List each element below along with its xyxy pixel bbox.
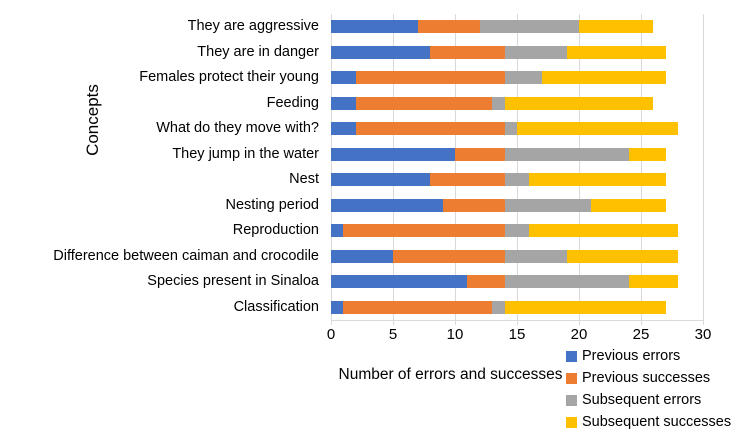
bar-segment[interactable] — [331, 122, 356, 135]
bar-segment[interactable] — [629, 275, 679, 288]
legend-swatch-icon — [566, 351, 577, 362]
legend-swatch-icon — [566, 417, 577, 428]
x-axis-title: Number of errors and successes — [332, 366, 569, 384]
bar-segment[interactable] — [331, 20, 418, 33]
x-tick-label: 0 — [311, 326, 351, 343]
x-tick-label: 30 — [683, 326, 723, 343]
bar-row — [331, 269, 703, 295]
bar-segment[interactable] — [579, 20, 653, 33]
bar-segment[interactable] — [343, 301, 492, 314]
bar-segment[interactable] — [356, 71, 505, 84]
stacked-bar[interactable] — [331, 46, 703, 59]
bar-segment[interactable] — [505, 275, 629, 288]
x-tick — [641, 320, 642, 325]
bar-row — [331, 142, 703, 168]
bar-segment[interactable] — [331, 97, 356, 110]
stacked-bar[interactable] — [331, 199, 703, 212]
bar-segment[interactable] — [529, 173, 665, 186]
stacked-bar[interactable] — [331, 148, 703, 161]
bar-row — [331, 116, 703, 142]
bar-segment[interactable] — [505, 199, 592, 212]
bar-segment[interactable] — [505, 71, 542, 84]
bar-segment[interactable] — [529, 224, 678, 237]
stacked-bar[interactable] — [331, 275, 703, 288]
bar-row — [331, 167, 703, 193]
category-label: Nest — [30, 167, 324, 193]
bar-row — [331, 40, 703, 66]
bar-segment[interactable] — [591, 199, 665, 212]
bar-row — [331, 65, 703, 91]
legend-swatch-icon — [566, 373, 577, 384]
stacked-bar-chart: Concepts They are aggressiveThey are in … — [0, 0, 739, 437]
chart-legend: Previous errorsPrevious successesSubsequ… — [566, 345, 739, 433]
stacked-bar[interactable] — [331, 97, 703, 110]
legend-label: Previous successes — [582, 370, 710, 386]
x-tick-label: 5 — [373, 326, 413, 343]
bar-row — [331, 244, 703, 270]
x-tick — [455, 320, 456, 325]
category-label: Difference between caiman and crocodile — [30, 244, 324, 270]
bar-segment[interactable] — [492, 97, 504, 110]
category-label: What do they move with? — [30, 116, 324, 142]
x-tick-label: 15 — [497, 326, 537, 343]
legend-item[interactable]: Subsequent successes — [566, 411, 739, 433]
bar-row — [331, 295, 703, 321]
bar-segment[interactable] — [331, 275, 467, 288]
x-tick — [579, 320, 580, 325]
bar-segment[interactable] — [505, 148, 629, 161]
bar-segment[interactable] — [331, 71, 356, 84]
bar-segment[interactable] — [443, 199, 505, 212]
bar-segment[interactable] — [467, 275, 504, 288]
bar-segment[interactable] — [492, 301, 504, 314]
gridline — [703, 14, 704, 320]
bar-segment[interactable] — [331, 224, 343, 237]
bar-segment[interactable] — [542, 71, 666, 84]
bar-segment[interactable] — [505, 301, 666, 314]
category-label: Nesting period — [30, 193, 324, 219]
bar-row — [331, 193, 703, 219]
bar-segment[interactable] — [331, 173, 430, 186]
x-tick — [393, 320, 394, 325]
plot-area — [331, 14, 703, 320]
bar-segment[interactable] — [331, 199, 443, 212]
bar-segment[interactable] — [567, 46, 666, 59]
bar-segment[interactable] — [418, 20, 480, 33]
stacked-bar[interactable] — [331, 250, 703, 263]
category-label: They are aggressive — [30, 14, 324, 40]
legend-label: Subsequent successes — [582, 414, 731, 430]
bar-segment[interactable] — [505, 122, 517, 135]
bar-segment[interactable] — [430, 173, 504, 186]
bar-segment[interactable] — [430, 46, 504, 59]
x-tick-label: 20 — [559, 326, 599, 343]
bar-segment[interactable] — [505, 46, 567, 59]
bar-segment[interactable] — [517, 122, 678, 135]
x-tick — [331, 320, 332, 325]
legend-item[interactable]: Previous successes — [566, 367, 739, 389]
legend-label: Previous errors — [582, 348, 680, 364]
bar-row — [331, 91, 703, 117]
legend-item[interactable]: Subsequent errors — [566, 389, 739, 411]
bar-segment[interactable] — [393, 250, 505, 263]
bar-segment[interactable] — [505, 224, 530, 237]
bar-segment[interactable] — [356, 97, 492, 110]
category-axis-labels: They are aggressiveThey are in dangerFem… — [30, 14, 324, 320]
stacked-bar[interactable] — [331, 71, 703, 84]
category-label: They are in danger — [30, 40, 324, 66]
stacked-bar[interactable] — [331, 224, 703, 237]
x-tick-label: 25 — [621, 326, 661, 343]
category-label: Females protect their young — [30, 65, 324, 91]
bar-row — [331, 218, 703, 244]
bar-rows — [331, 14, 703, 320]
category-label: Feeding — [30, 91, 324, 117]
bar-segment[interactable] — [331, 46, 430, 59]
bar-segment[interactable] — [505, 97, 654, 110]
stacked-bar[interactable] — [331, 20, 703, 33]
x-tick-label: 10 — [435, 326, 475, 343]
bar-segment[interactable] — [356, 122, 505, 135]
stacked-bar[interactable] — [331, 122, 703, 135]
bar-segment[interactable] — [455, 148, 505, 161]
category-label: They jump in the water — [30, 142, 324, 168]
bar-segment[interactable] — [480, 20, 579, 33]
category-label: Reproduction — [30, 218, 324, 244]
x-tick — [517, 320, 518, 325]
category-label: Species present in Sinaloa — [30, 269, 324, 295]
x-tick — [703, 320, 704, 325]
bar-segment[interactable] — [629, 148, 666, 161]
bar-segment[interactable] — [331, 250, 393, 263]
bar-segment[interactable] — [505, 250, 567, 263]
bar-segment[interactable] — [343, 224, 504, 237]
bar-segment[interactable] — [505, 173, 530, 186]
bar-segment[interactable] — [331, 148, 455, 161]
bar-segment[interactable] — [567, 250, 679, 263]
category-label: Classification — [30, 295, 324, 321]
legend-swatch-icon — [566, 395, 577, 406]
stacked-bar[interactable] — [331, 173, 703, 186]
legend-label: Subsequent errors — [582, 392, 701, 408]
bar-segment[interactable] — [331, 301, 343, 314]
bar-row — [331, 14, 703, 40]
stacked-bar[interactable] — [331, 301, 703, 314]
legend-item[interactable]: Previous errors — [566, 345, 739, 367]
